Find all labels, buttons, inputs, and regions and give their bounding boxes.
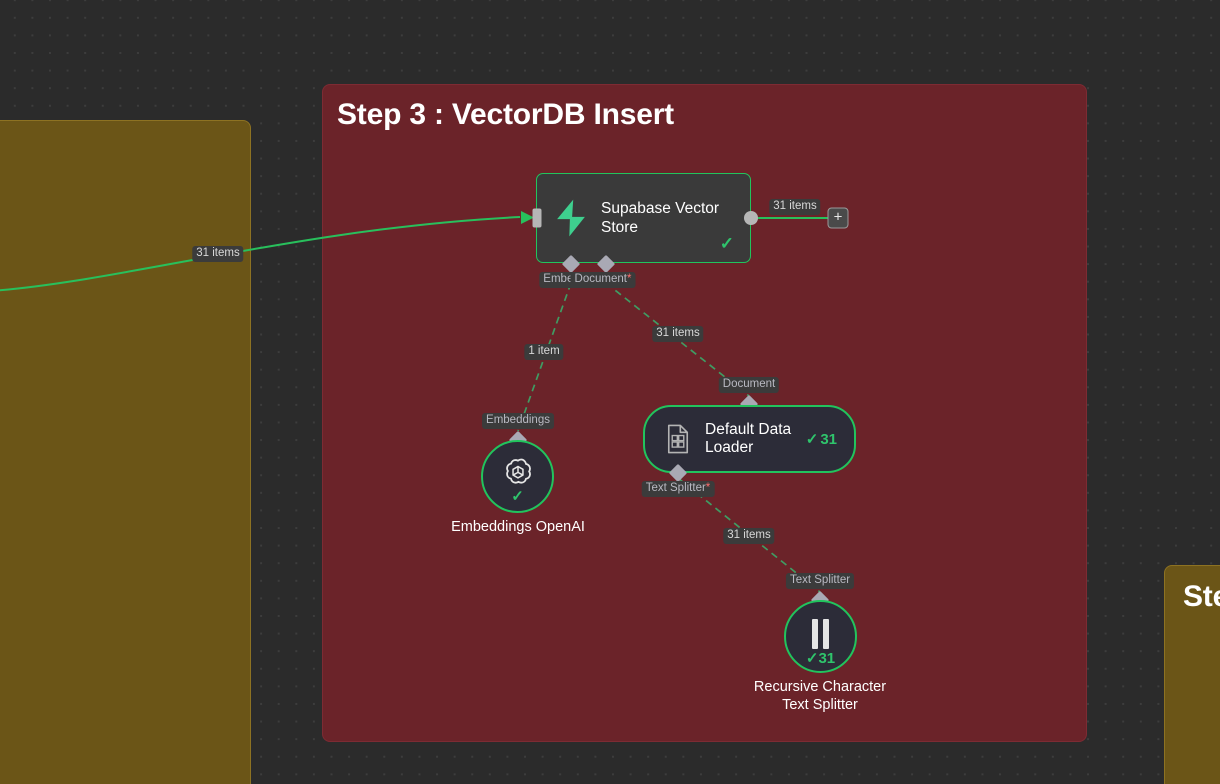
node-supabase-vector-store[interactable]: Supabase Vector Store ✓: [536, 173, 751, 263]
supabase-output-port[interactable]: [744, 211, 758, 225]
node-embeddings-openai[interactable]: ✓: [481, 440, 554, 513]
port-label-document: Document*: [571, 272, 636, 288]
text-splitter-icon: [812, 619, 829, 649]
node-supabase-title: Supabase Vector Store: [601, 199, 721, 237]
node-recursive-character-text-splitter-caption: Recursive Character Text Splitter: [754, 678, 886, 714]
port-label-splitter: Text Splitter: [786, 573, 854, 589]
splitter-run-count: ✓31: [786, 651, 855, 666]
node-default-data-loader-title: Default Data Loader: [705, 421, 809, 457]
binary-file-icon: [665, 424, 691, 454]
check-icon: ✓: [806, 430, 819, 448]
node-embeddings-openai-caption: Embeddings OpenAI: [451, 518, 585, 536]
node-default-data-loader[interactable]: Default Data Loader ✓31: [643, 405, 856, 473]
port-label-loader-text-splitter: Text Splitter*: [642, 481, 715, 497]
edge-label-input-items: 31 items: [192, 246, 243, 262]
dataloader-run-count: ✓31: [806, 430, 837, 448]
port-label-embeddings: Embeddings: [482, 413, 554, 429]
connection-lines: [0, 0, 1220, 784]
wire-input-to-supabase: [0, 217, 520, 291]
workflow-canvas[interactable]: Step 3 : VectorDB Insert Ste 31 items 31…: [0, 0, 1220, 784]
edge-label-embeddings-items: 1 item: [524, 344, 563, 360]
check-icon: ✓: [720, 235, 734, 252]
node-recursive-character-text-splitter[interactable]: ✓31: [784, 600, 857, 673]
edge-label-splitter-items: 31 items: [723, 528, 774, 544]
edge-label-document-items: 31 items: [652, 326, 703, 342]
supabase-input-port[interactable]: [533, 209, 542, 228]
port-label-loader-document: Document: [719, 377, 779, 393]
edge-label-supabase-output-items: 31 items: [769, 199, 820, 215]
supabase-icon: [553, 198, 589, 238]
check-icon: ✓: [483, 489, 552, 504]
add-node-button[interactable]: +: [828, 208, 849, 229]
